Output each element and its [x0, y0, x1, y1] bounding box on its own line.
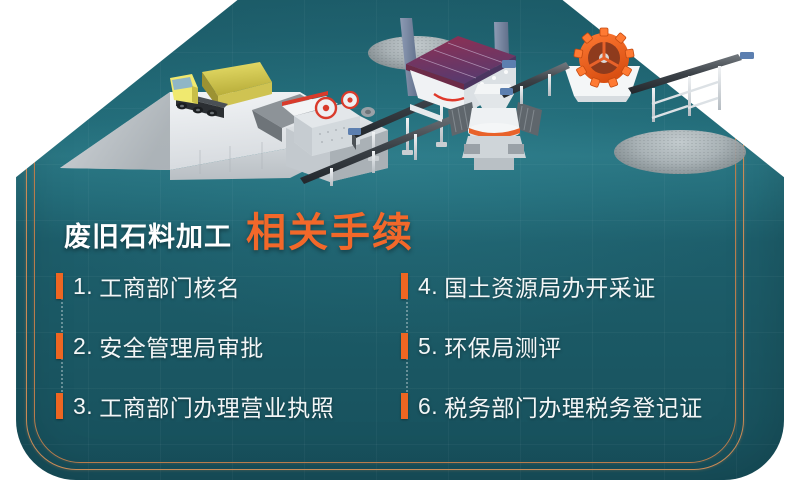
procedure-list: 1. 工商部门核名 2. 安全管理局审批 3. 工商部门办理营业执照 4. 国土… [56, 272, 746, 420]
orange-bullet-bar [401, 393, 408, 419]
list-item[interactable]: 4. 国土资源局办开采证 [401, 272, 746, 300]
orange-bullet-bar [56, 393, 63, 419]
scene-vector-layer [0, 0, 800, 190]
orange-bullet-bar [401, 273, 408, 299]
list-item-number: 3. [73, 393, 93, 420]
list-item-number: 2. [73, 333, 93, 360]
list-item-number: 5. [418, 333, 438, 360]
machinery-scene [0, 0, 800, 190]
list-item-label: 工商部门核名 [99, 269, 240, 303]
list-item-number: 4. [418, 273, 438, 300]
sand-washer-icon [564, 28, 640, 102]
list-item-label: 税务部门办理税务登记证 [444, 389, 703, 423]
list-item[interactable]: 5. 环保局测评 [401, 332, 746, 360]
list-item-label: 环保局测评 [444, 329, 562, 363]
list-item[interactable]: 3. 工商部门办理营业执照 [56, 392, 401, 420]
list-item[interactable]: 1. 工商部门核名 [56, 272, 401, 300]
orange-bullet-bar [401, 333, 408, 359]
list-item-label: 国土资源局办开采证 [444, 269, 656, 303]
headline: 废旧石料加工 相关手续 [64, 200, 414, 258]
orange-bullet-bar [56, 273, 63, 299]
list-item-label: 工商部门办理营业执照 [99, 389, 334, 423]
list-item[interactable]: 6. 税务部门办理税务登记证 [401, 392, 746, 420]
list-item[interactable]: 2. 安全管理局审批 [56, 332, 401, 360]
list-item-label: 安全管理局审批 [99, 329, 264, 363]
procedure-column-left: 1. 工商部门核名 2. 安全管理局审批 3. 工商部门办理营业执照 [56, 272, 401, 420]
headline-highlight: 相关手续 [246, 200, 414, 258]
list-item-number: 1. [73, 273, 93, 300]
headline-prefix: 废旧石料加工 [64, 215, 232, 254]
orange-bullet-bar [56, 333, 63, 359]
poster-root: 废旧石料加工 相关手续 1. 工商部门核名 2. 安全管理局审批 3. 工商部门… [0, 0, 800, 500]
conveyor-belt-icon [628, 52, 754, 122]
list-item-number: 6. [418, 393, 438, 420]
procedure-column-right: 4. 国土资源局办开采证 5. 环保局测评 6. 税务部门办理税务登记证 [401, 272, 746, 420]
